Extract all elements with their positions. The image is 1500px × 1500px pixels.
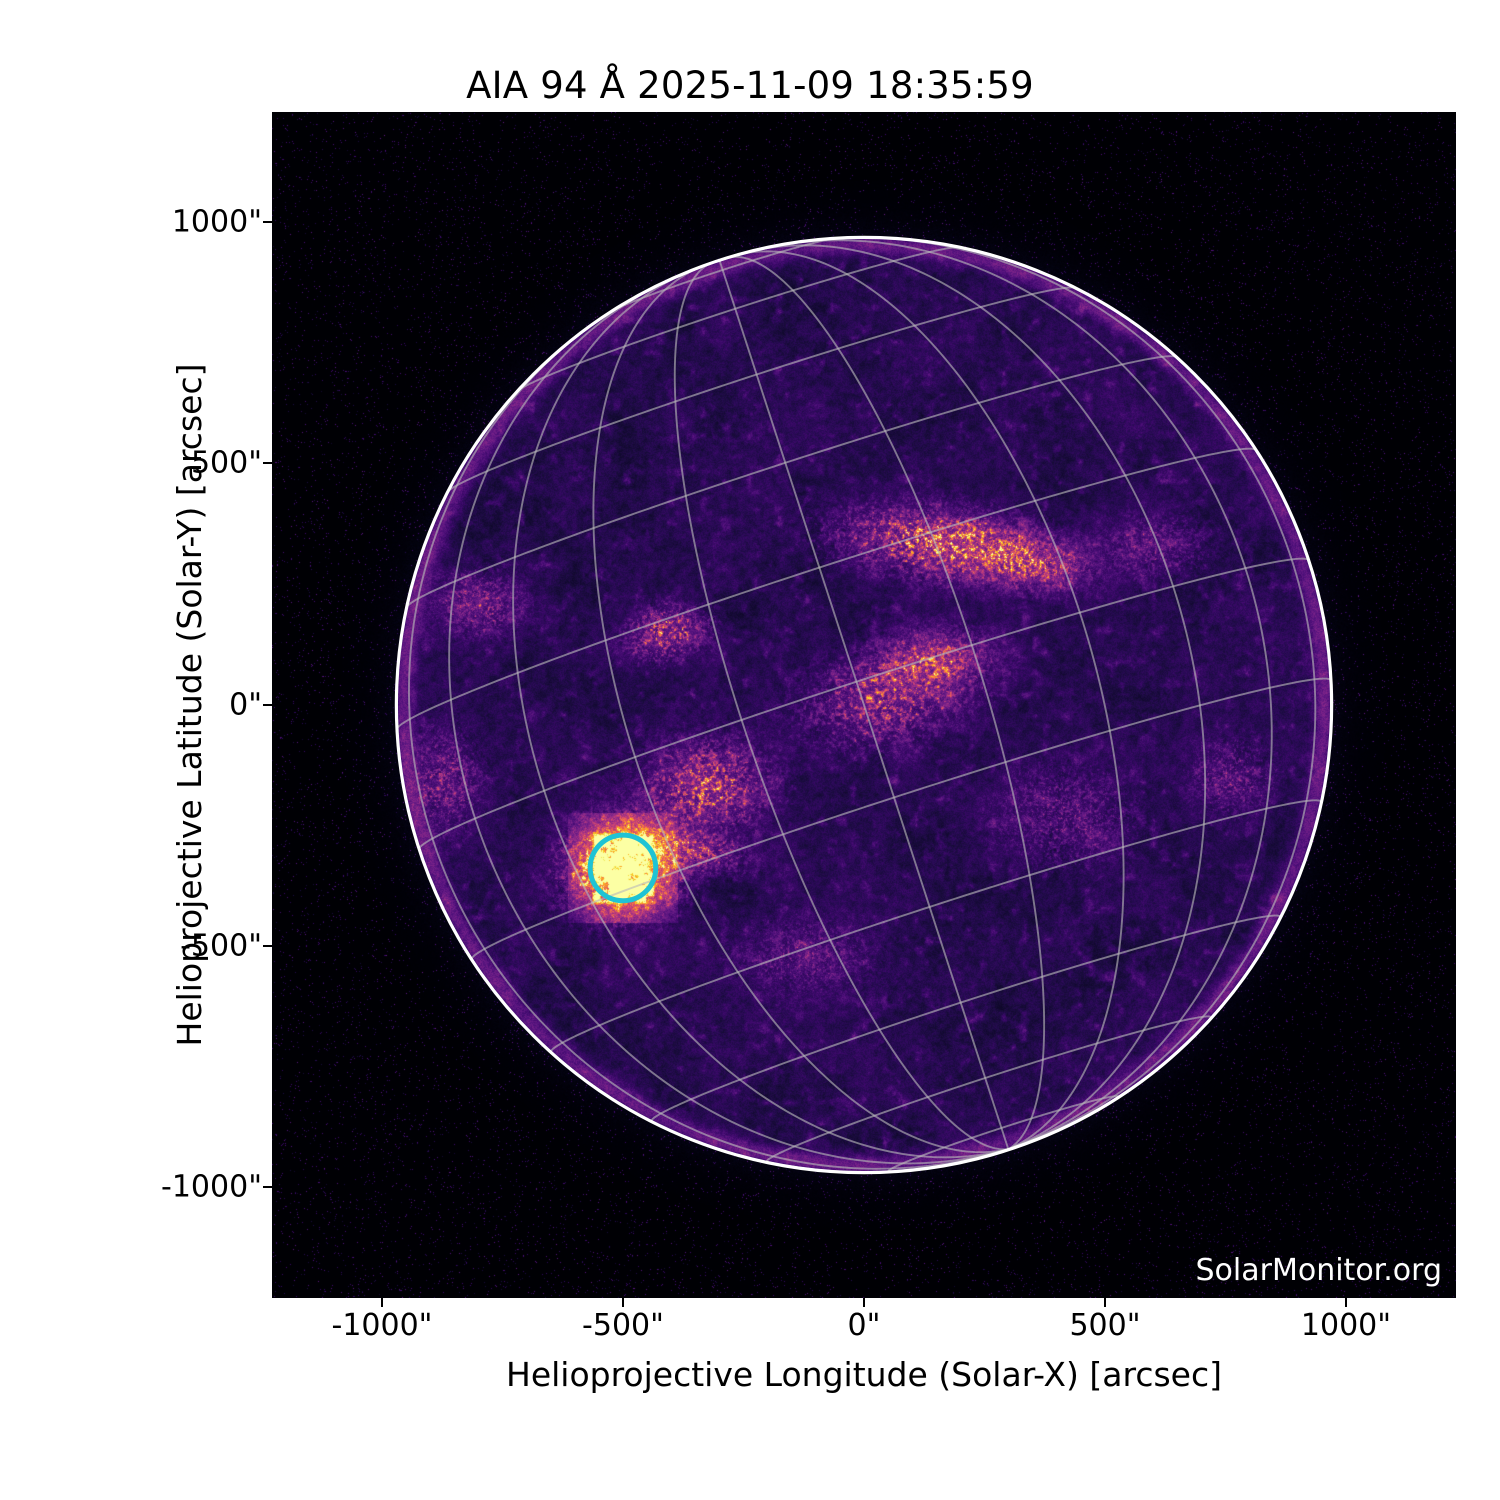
x-axis-label: Helioprojective Longitude (Solar-X) [arc… <box>272 1355 1456 1394</box>
xtick-mark <box>622 1298 624 1307</box>
grid-line <box>804 238 1315 1150</box>
grid-line <box>720 260 1009 1149</box>
ytick-mark <box>263 704 272 706</box>
ytick-mark <box>263 221 272 223</box>
xtick-label-500: 500" <box>1069 1308 1140 1343</box>
xtick-label-neg1000: -1000" <box>332 1308 433 1343</box>
ytick-mark <box>263 462 272 464</box>
watermark-label: SolarMonitor.org <box>1196 1253 1442 1288</box>
xtick-label-neg500: -500" <box>582 1308 664 1343</box>
xtick-mark <box>1345 1298 1347 1307</box>
xtick-mark <box>381 1298 383 1307</box>
heliographic-grid <box>397 238 1332 1172</box>
grid-overlay <box>272 112 1456 1298</box>
grid-line <box>726 257 1045 1149</box>
ytick-mark <box>263 1186 272 1188</box>
page-title: AIA 94 Å 2025-11-09 18:35:59 <box>0 64 1500 107</box>
xtick-label-1000: 1000" <box>1301 1308 1391 1343</box>
xtick-mark <box>863 1298 865 1307</box>
plot-area: SolarMonitor.org <box>272 112 1456 1298</box>
xtick-mark <box>1104 1298 1106 1307</box>
ytick-label-0: 0" <box>229 688 262 723</box>
xtick-label-0: 0" <box>848 1308 881 1343</box>
grid-line <box>593 266 1008 1153</box>
ytick-mark <box>263 945 272 947</box>
grid-line <box>449 275 1008 1163</box>
grid-line <box>675 262 1009 1149</box>
y-axis-label: Helioprojective Latitude (Solar-Y) [arcs… <box>170 112 209 1298</box>
solar-image-figure: AIA 94 Å 2025-11-09 18:35:59 SolarMonito… <box>0 0 1500 1500</box>
